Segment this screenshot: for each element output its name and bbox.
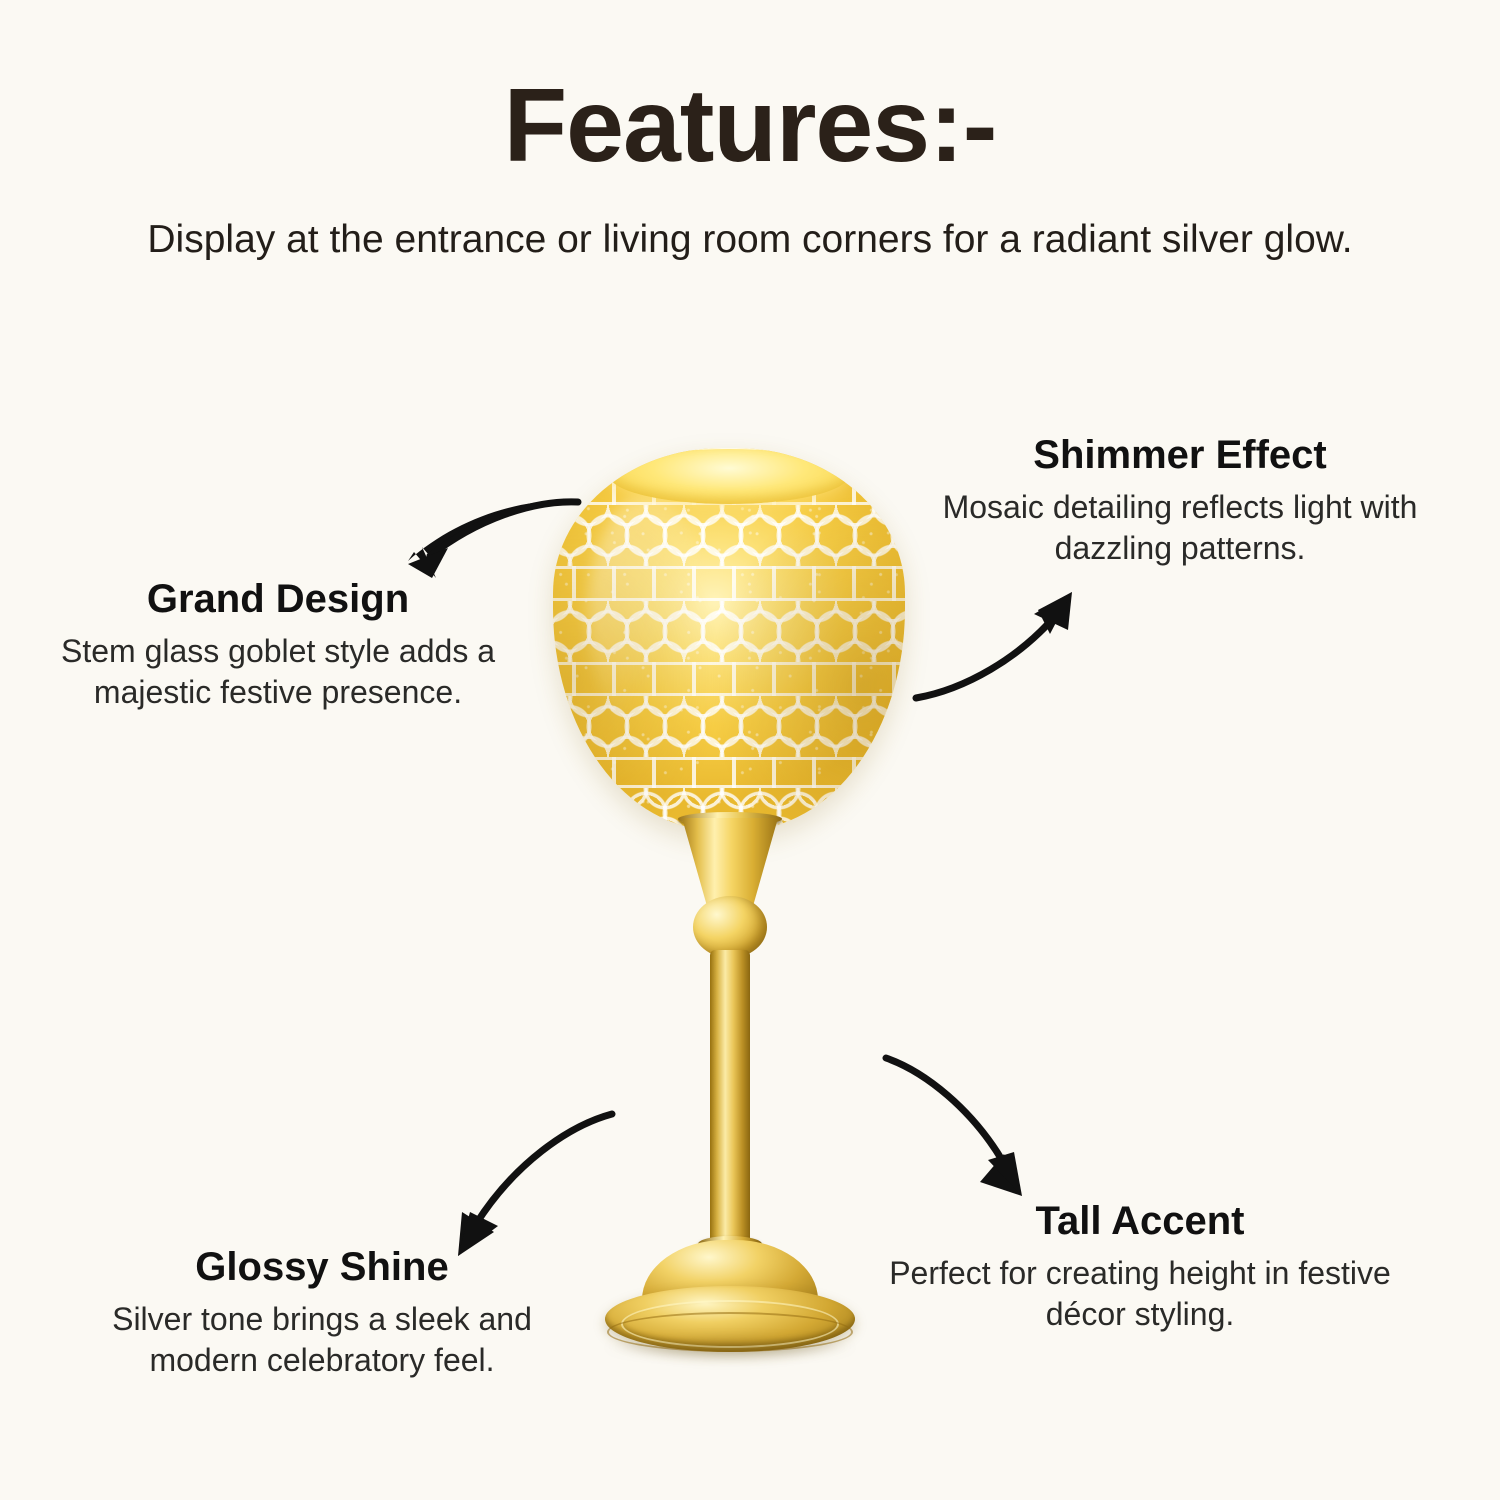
goblet-bowl-mosaic (553, 448, 905, 830)
goblet-rim-opening (609, 448, 848, 504)
feature-description: Silver tone brings a sleek and modern ce… (62, 1299, 582, 1381)
stem-shaft (710, 950, 750, 1250)
infographic-canvas: Features:- Display at the entrance or li… (0, 0, 1500, 1500)
feature-title: Shimmer Effect (920, 432, 1440, 478)
curved-arrow-down-left-top (392, 492, 582, 582)
feature-grand-design: Grand Design Stem glass goblet style add… (18, 576, 538, 713)
ground-shadow (605, 1336, 855, 1358)
feature-title: Grand Design (18, 576, 538, 622)
feature-description: Mosaic detailing reflects light with daz… (920, 487, 1440, 569)
stem-flare (682, 818, 778, 906)
feature-title: Tall Accent (860, 1198, 1420, 1244)
curved-arrow-down-right-bottom (882, 1048, 1082, 1208)
feature-title: Glossy Shine (62, 1244, 582, 1290)
feature-shimmer-effect: Shimmer Effect Mosaic detailing reflects… (920, 432, 1440, 569)
feature-glossy-shine: Glossy Shine Silver tone brings a sleek … (62, 1244, 582, 1381)
page-subtitle: Display at the entrance or living room c… (0, 216, 1500, 265)
curved-arrow-up-right-top (910, 586, 1110, 706)
page-title: Features:- (0, 72, 1500, 181)
feature-tall-accent: Tall Accent Perfect for creating height … (860, 1198, 1420, 1335)
glitter-texture (553, 448, 905, 830)
stem-knop-ball (693, 896, 767, 958)
feature-description: Perfect for creating height in festive d… (860, 1253, 1420, 1335)
feature-description: Stem glass goblet style adds a majestic … (18, 631, 538, 713)
